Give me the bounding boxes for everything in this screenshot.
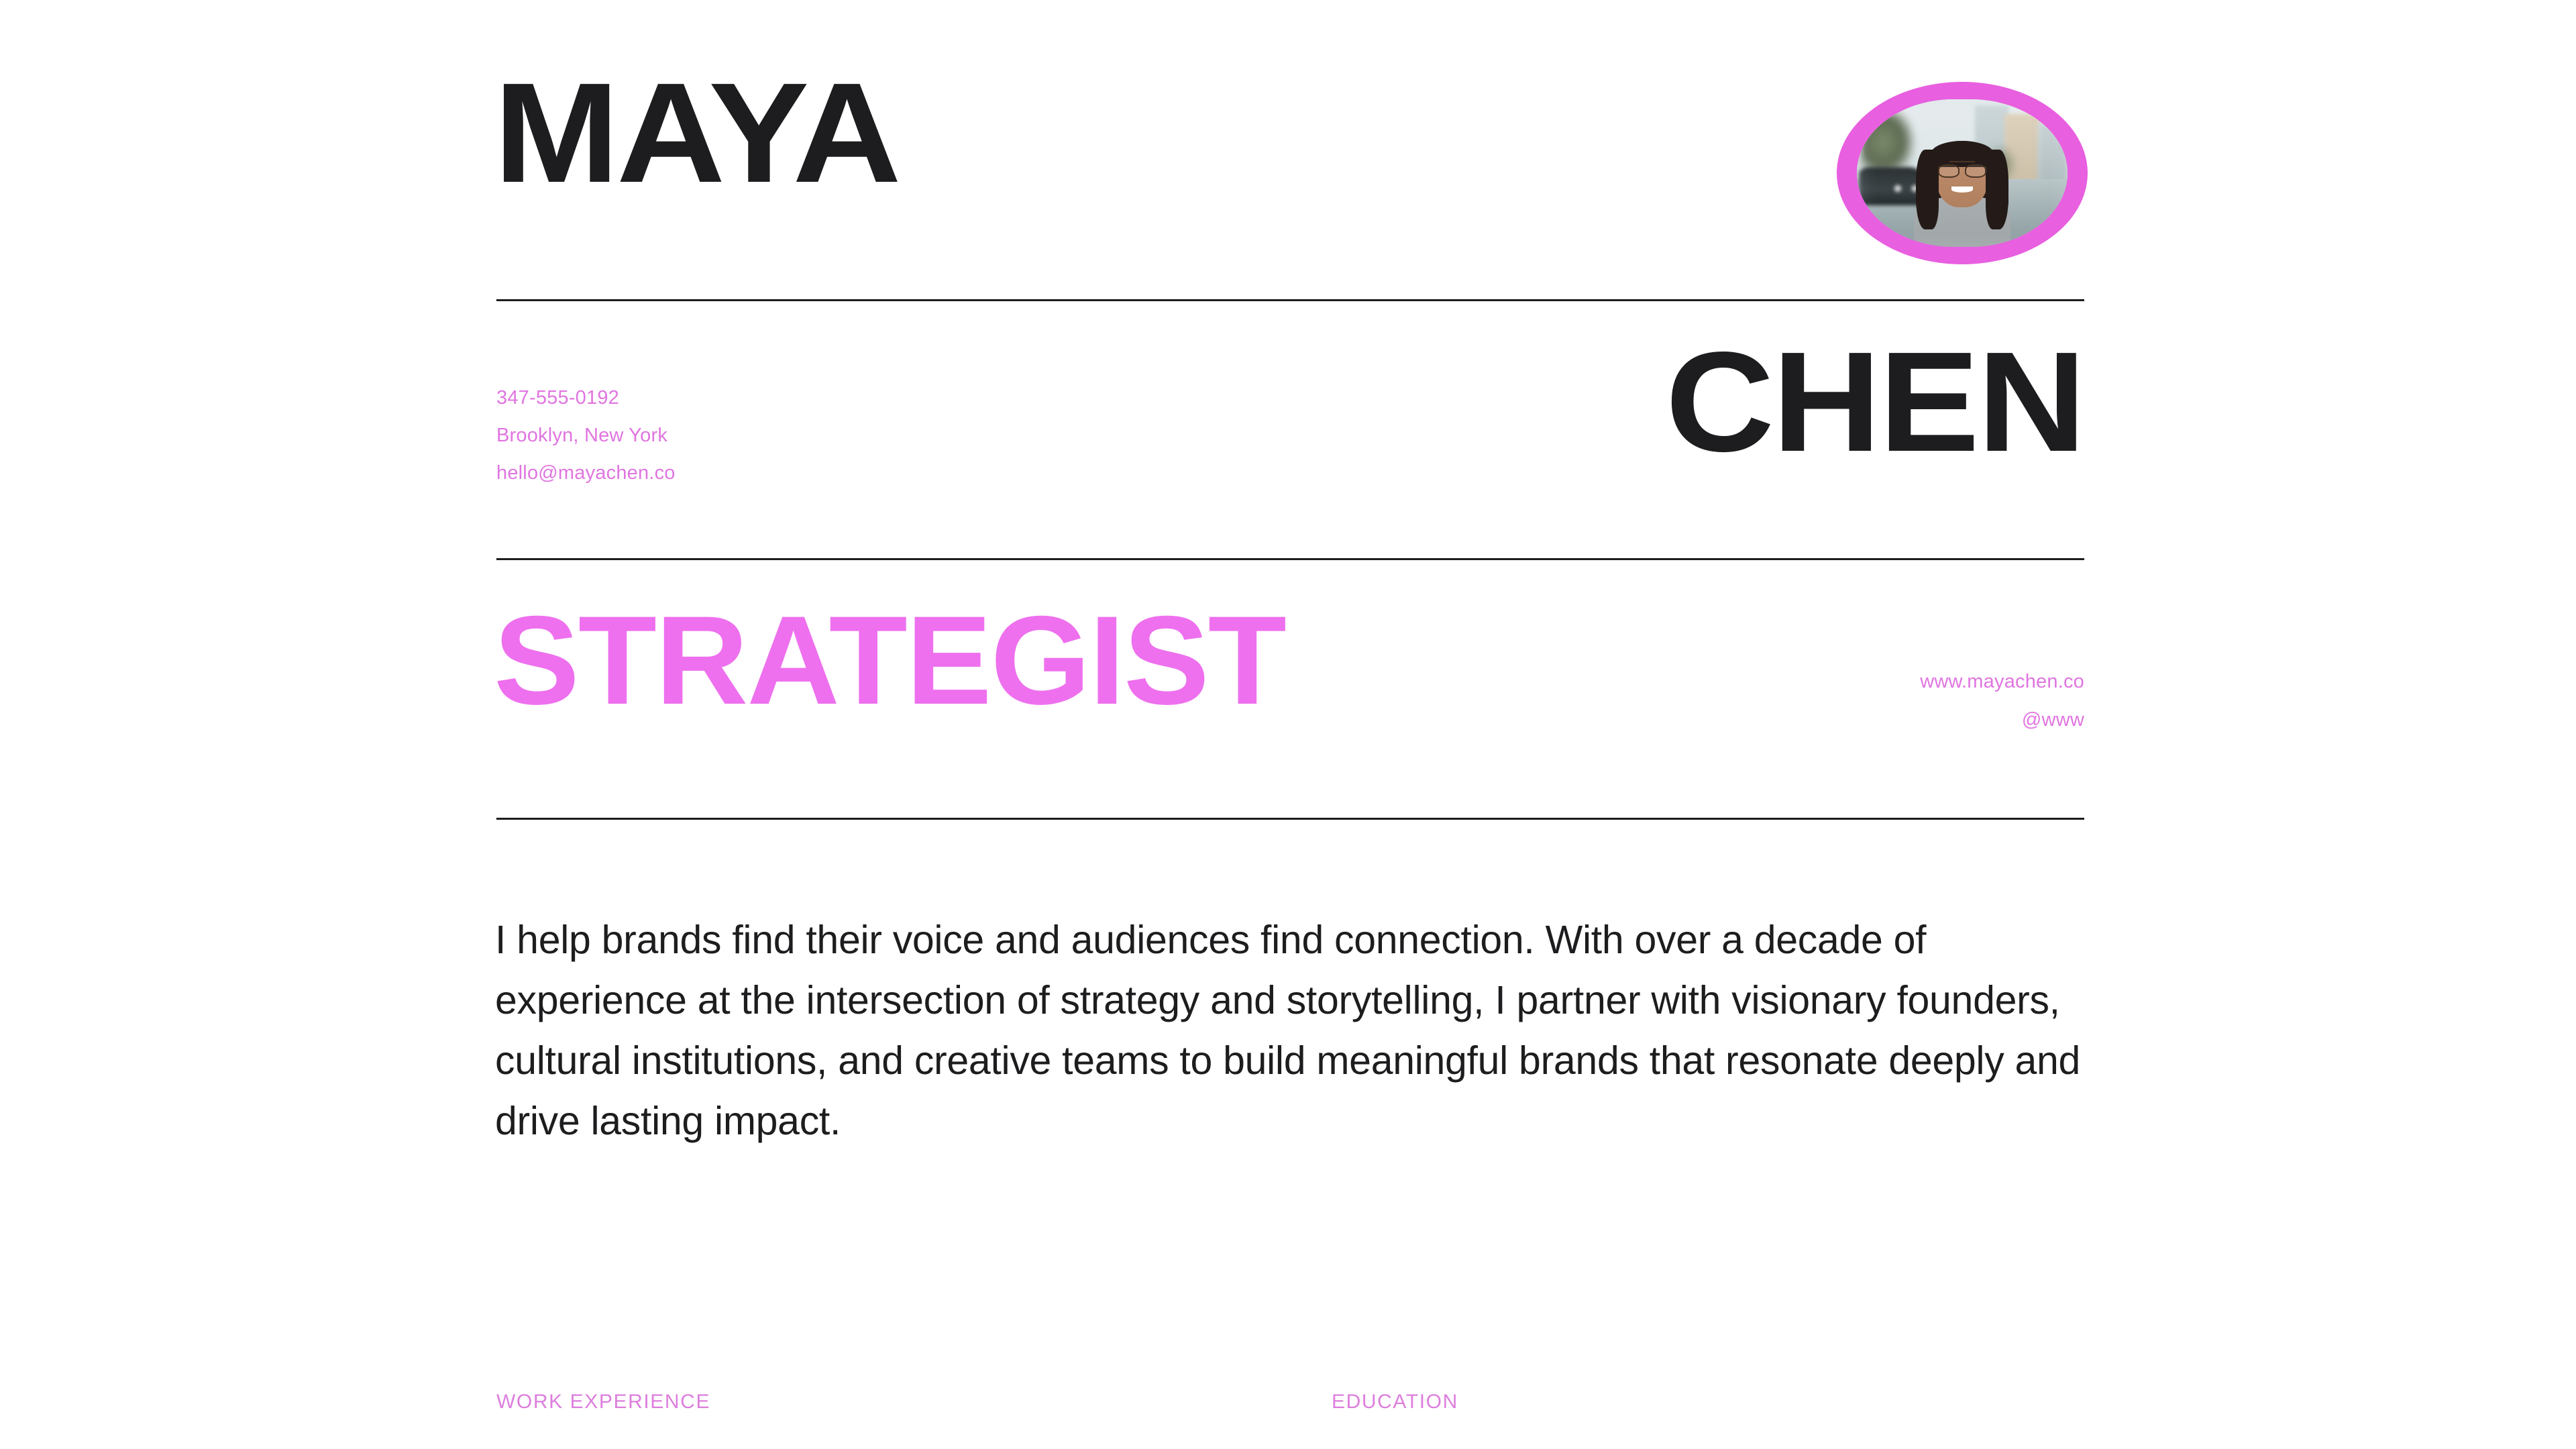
contact-info-block: 347-555-0192 Brooklyn, New York hello@ma… xyxy=(496,379,676,492)
divider-middle xyxy=(496,558,2084,560)
photo-vignette xyxy=(1857,99,2068,247)
social-handle[interactable]: @www xyxy=(1920,701,2084,739)
contact-phone[interactable]: 347-555-0192 xyxy=(496,379,676,417)
section-heading-work-experience: WORK EXPERIENCE xyxy=(496,1391,710,1413)
divider-top xyxy=(496,299,2084,301)
professional-summary: I help brands find their voice and audie… xyxy=(495,910,2092,1151)
page-title-first-name: MAYA xyxy=(494,62,898,204)
section-heading-education: EDUCATION xyxy=(1332,1391,1458,1413)
avatar xyxy=(1837,82,2088,264)
job-title: STRATEGIST xyxy=(494,597,1285,723)
website-link[interactable]: www.mayachen.co xyxy=(1920,663,2084,701)
divider-bottom xyxy=(496,818,2084,820)
contact-email[interactable]: hello@mayachen.co xyxy=(496,454,676,492)
resume-page: MAYA xyxy=(0,0,2576,1449)
contact-location: Brooklyn, New York xyxy=(496,417,676,454)
avatar-photo xyxy=(1857,99,2068,247)
page-title-last-name: CHEN xyxy=(1666,331,2084,473)
links-block: www.mayachen.co @www xyxy=(1920,663,2084,739)
